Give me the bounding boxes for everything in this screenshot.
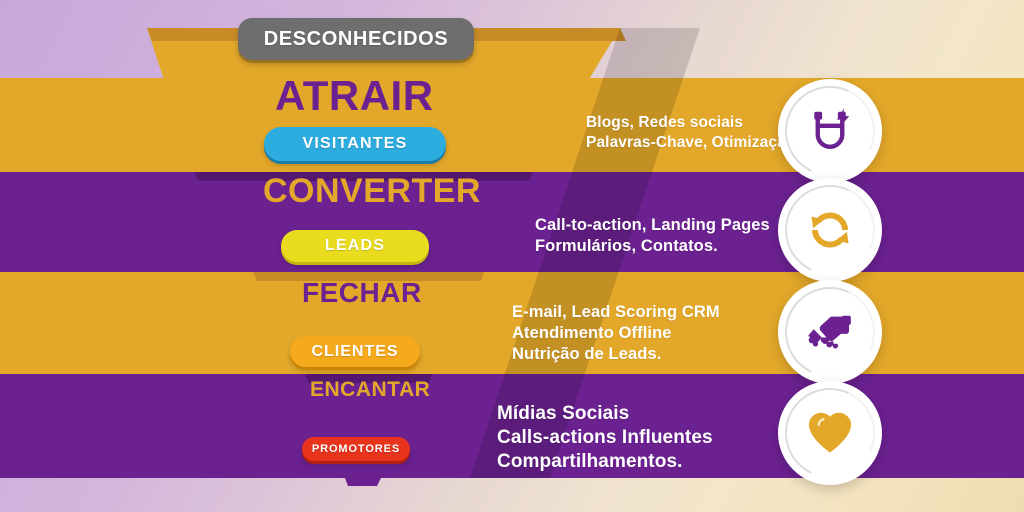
description-line: Compartilhamentos.	[497, 450, 713, 474]
icon-badge-encantar	[778, 381, 882, 485]
stage-label-converter: CONVERTER	[263, 172, 481, 211]
icon-badge-fechar	[778, 280, 882, 384]
badge-clientes[interactable]: CLIENTES	[290, 336, 420, 367]
magnet-icon	[802, 103, 858, 159]
description-line: Formulários, Contatos.	[535, 236, 770, 257]
badge-desconhecidos[interactable]: DESCONHECIDOS	[238, 18, 474, 60]
stage-label-atrair: ATRAIR	[275, 72, 434, 120]
heart-icon	[804, 407, 856, 459]
refresh-cycle-icon	[803, 203, 857, 257]
description-line: Palavras-Chave, Otimizaçao.	[586, 133, 800, 153]
stage-label-fechar: FECHAR	[302, 277, 422, 309]
description-line: Mídias Sociais	[497, 402, 713, 426]
badge-leads[interactable]: LEADS	[281, 230, 429, 262]
description-line: Call-to-action, Landing Pages	[535, 215, 770, 236]
description-line: Calls-actions Influentes	[497, 426, 713, 450]
description-fechar: E-mail, Lead Scoring CRM Atendimento Off…	[512, 302, 720, 364]
description-line: Blogs, Redes sociais	[586, 113, 800, 133]
description-line: Nutrição de Leads.	[512, 344, 720, 365]
stage-label-encantar: ENCANTAR	[310, 378, 430, 402]
description-encantar: Mídias Sociais Calls-actions Influentes …	[497, 402, 713, 474]
description-converter: Call-to-action, Landing Pages Formulário…	[535, 215, 770, 257]
icon-badge-atrair	[778, 79, 882, 183]
badge-promotores[interactable]: PROMOTORES	[302, 437, 410, 461]
icon-badge-converter	[778, 178, 882, 282]
description-line: E-mail, Lead Scoring CRM	[512, 302, 720, 323]
badge-visitantes[interactable]: VISITANTES	[264, 127, 446, 161]
description-atrair: Blogs, Redes sociais Palavras-Chave, Oti…	[586, 113, 800, 152]
handshake-icon	[801, 303, 859, 361]
description-line: Atendimento Offline	[512, 323, 720, 344]
infographic-canvas: Blogs, Redes sociais Palavras-Chave, Oti…	[0, 0, 1024, 512]
